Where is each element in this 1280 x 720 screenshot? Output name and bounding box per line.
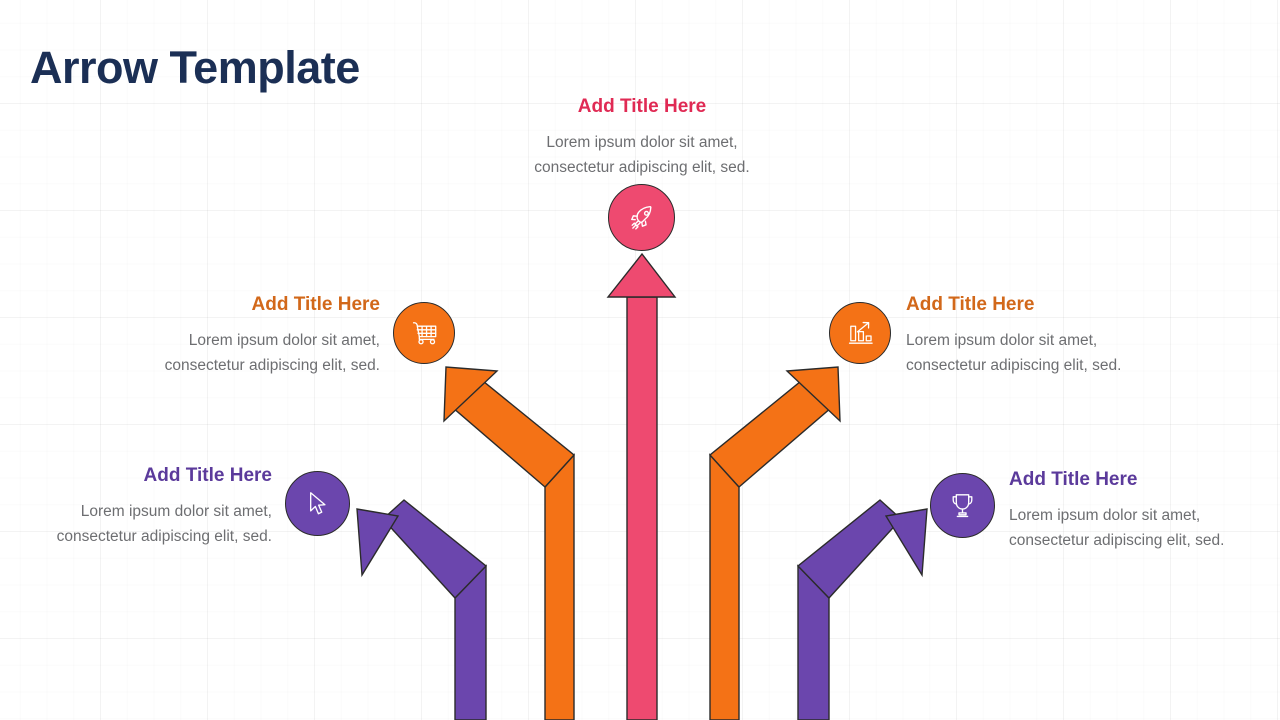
item-body-right-purple: Lorem ipsum dolor sit amet, consectetur … bbox=[1009, 503, 1280, 554]
item-body-line: consectetur adipiscing elit, sed. bbox=[0, 524, 272, 550]
item-title-right-purple: Add Title Here bbox=[1009, 468, 1280, 492]
icon-badge-left-purple[interactable] bbox=[285, 471, 350, 536]
rocket-icon bbox=[625, 201, 659, 235]
item-body-line: Lorem ipsum dolor sit amet, bbox=[440, 130, 844, 156]
item-body-line: consectetur adipiscing elit, sed. bbox=[440, 155, 844, 181]
icon-badge-top-center[interactable] bbox=[608, 184, 675, 251]
cursor-pointer-icon bbox=[301, 487, 334, 520]
text-block-right-orange: Add Title Here Lorem ipsum dolor sit ame… bbox=[906, 293, 1246, 379]
item-title-top-center: Add Title Here bbox=[440, 95, 844, 119]
icon-badge-right-orange[interactable] bbox=[829, 302, 891, 364]
item-title-left-orange: Add Title Here bbox=[50, 293, 380, 317]
text-block-right-purple: Add Title Here Lorem ipsum dolor sit ame… bbox=[1009, 468, 1280, 554]
item-body-left-orange: Lorem ipsum dolor sit amet, consectetur … bbox=[50, 328, 380, 379]
shopping-cart-icon bbox=[407, 316, 441, 350]
item-body-top-center: Lorem ipsum dolor sit amet, consectetur … bbox=[440, 130, 844, 181]
icon-badge-left-orange[interactable] bbox=[393, 302, 455, 364]
page-title: Arrow Template bbox=[30, 44, 360, 93]
item-body-right-orange: Lorem ipsum dolor sit amet, consectetur … bbox=[906, 328, 1246, 379]
growth-chart-icon bbox=[844, 317, 877, 350]
item-title-left-purple: Add Title Here bbox=[0, 464, 272, 488]
arrow-right-purple bbox=[798, 500, 927, 720]
item-body-line: consectetur adipiscing elit, sed. bbox=[1009, 528, 1280, 554]
text-block-left-purple: Add Title Here Lorem ipsum dolor sit ame… bbox=[0, 464, 272, 550]
arrow-left-purple bbox=[357, 500, 486, 720]
item-body-line: Lorem ipsum dolor sit amet, bbox=[1009, 503, 1280, 529]
trophy-icon bbox=[946, 489, 979, 522]
text-block-left-orange: Add Title Here Lorem ipsum dolor sit ame… bbox=[50, 293, 380, 379]
item-body-line: consectetur adipiscing elit, sed. bbox=[906, 353, 1246, 379]
item-body-line: Lorem ipsum dolor sit amet, bbox=[906, 328, 1246, 354]
icon-badge-right-purple[interactable] bbox=[930, 473, 995, 538]
arrow-center-pink bbox=[608, 254, 675, 720]
item-body-line: Lorem ipsum dolor sit amet, bbox=[0, 499, 272, 525]
slide-canvas: Arrow Template Add Title Here Lorem ipsu… bbox=[0, 0, 1280, 720]
item-body-left-purple: Lorem ipsum dolor sit amet, consectetur … bbox=[0, 499, 272, 550]
item-title-right-orange: Add Title Here bbox=[906, 293, 1246, 317]
item-body-line: Lorem ipsum dolor sit amet, bbox=[50, 328, 380, 354]
item-body-line: consectetur adipiscing elit, sed. bbox=[50, 353, 380, 379]
text-block-top-center: Add Title Here Lorem ipsum dolor sit ame… bbox=[440, 95, 844, 181]
